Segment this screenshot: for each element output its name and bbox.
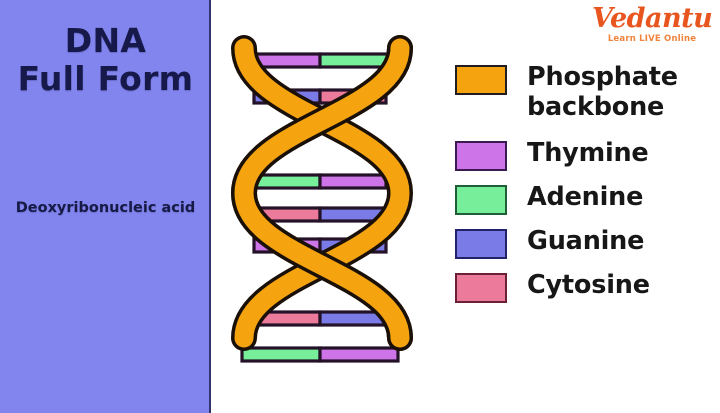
legend-label-phosphate: Phosphate backbone: [527, 62, 717, 122]
page-title: DNA Full Form: [0, 22, 211, 98]
logo-tagline: Learn LIVE Online: [592, 34, 712, 44]
legend: Phosphate backbone Thymine Adenine Guani…: [455, 62, 717, 314]
dna-helix-svg: [222, 18, 422, 388]
legend-swatch-phosphate: [455, 65, 507, 95]
base-adenine: [242, 348, 320, 361]
legend-swatch-cytosine: [455, 273, 507, 303]
legend-label-adenine: Adenine: [527, 182, 643, 212]
base-pair-1: [242, 54, 398, 67]
vedantu-logo: Vedantu Learn LIVE Online: [592, 4, 712, 50]
legend-item-adenine: Adenine: [455, 182, 717, 215]
legend-swatch-thymine: [455, 141, 507, 171]
page-subtitle: Deoxyribonucleic acid: [0, 198, 211, 219]
legend-item-cytosine: Cytosine: [455, 270, 717, 303]
legend-label-cytosine: Cytosine: [527, 270, 650, 300]
legend-swatch-guanine: [455, 229, 507, 259]
base-pair-6: [254, 312, 386, 325]
dna-full-form-infographic: DNA Full Form Deoxyribonucleic acid Veda…: [0, 0, 720, 413]
legend-item-guanine: Guanine: [455, 226, 717, 259]
legend-swatch-adenine: [455, 185, 507, 215]
legend-label-guanine: Guanine: [527, 226, 644, 256]
base-pair-7: [242, 348, 398, 361]
legend-item-thymine: Thymine: [455, 138, 717, 171]
logo-wordmark: Vedantu: [592, 4, 712, 36]
base-pair-3: [254, 175, 386, 188]
title-line-1: DNA: [0, 22, 211, 60]
title-line-2: Full Form: [0, 60, 211, 98]
dna-double-helix-diagram: [222, 18, 422, 388]
legend-label-thymine: Thymine: [527, 138, 649, 168]
base-thymine: [320, 348, 398, 361]
base-adenine: [254, 175, 320, 188]
legend-item-phosphate: Phosphate backbone: [455, 62, 717, 122]
base-thymine: [320, 175, 386, 188]
title-panel: DNA Full Form Deoxyribonucleic acid: [0, 0, 211, 413]
